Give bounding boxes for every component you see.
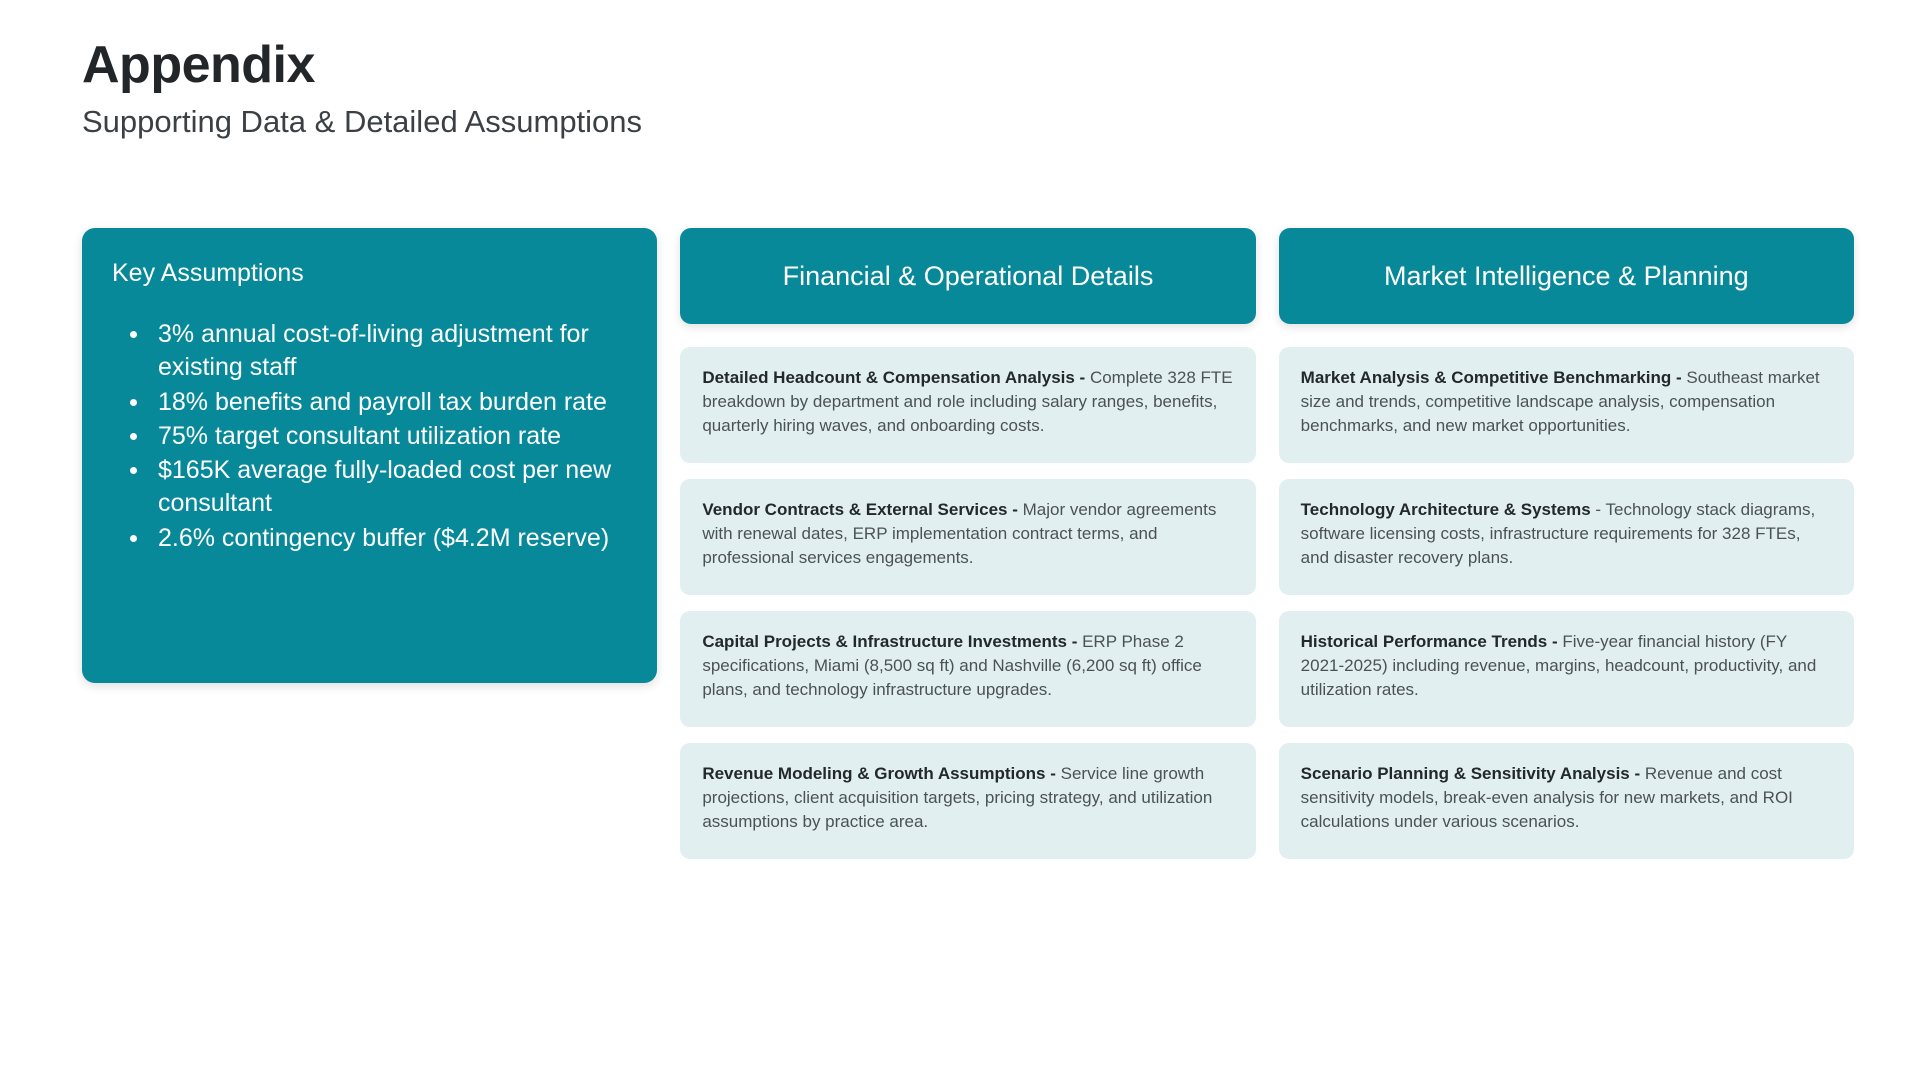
list-item: 75% target consultant utilization rate <box>112 420 627 453</box>
detail-card: Historical Performance Trends - Five-yea… <box>1279 611 1854 727</box>
detail-card: Vendor Contracts & External Services - M… <box>680 479 1255 595</box>
list-item: 2.6% contingency buffer ($4.2M reserve) <box>112 522 627 555</box>
bullet-icon <box>130 331 137 338</box>
detail-card: Capital Projects & Infrastructure Invest… <box>680 611 1255 727</box>
detail-card-lead: Historical Performance Trends - <box>1301 632 1558 651</box>
bullet-icon <box>130 467 137 474</box>
detail-card-text: Technology Architecture & Systems - Tech… <box>1301 498 1832 570</box>
bullet-icon <box>130 535 137 542</box>
list-item-label: 3% annual cost-of-living adjustment for … <box>158 320 589 381</box>
key-assumptions-title: Key Assumptions <box>112 258 627 288</box>
detail-card-lead: Scenario Planning & Sensitivity Analysis… <box>1301 764 1640 783</box>
detail-card-text: Detailed Headcount & Compensation Analys… <box>702 366 1233 438</box>
detail-card: Market Analysis & Competitive Benchmarki… <box>1279 347 1854 463</box>
list-item-label: 18% benefits and payroll tax burden rate <box>158 388 607 416</box>
column-header-market: Market Intelligence & Planning <box>1279 228 1854 324</box>
detail-card-text: Historical Performance Trends - Five-yea… <box>1301 630 1832 702</box>
page-title: Appendix <box>82 38 642 93</box>
bullet-icon <box>130 399 137 406</box>
detail-card-lead: Revenue Modeling & Growth Assumptions - <box>702 764 1056 783</box>
financial-operational-column: Financial & Operational Details Detailed… <box>680 228 1255 875</box>
column-header-label: Market Intelligence & Planning <box>1370 260 1763 292</box>
detail-card: Scenario Planning & Sensitivity Analysis… <box>1279 743 1854 859</box>
key-assumptions-column: Key Assumptions 3% annual cost-of-living… <box>82 228 657 683</box>
key-assumptions-panel: Key Assumptions 3% annual cost-of-living… <box>82 228 657 683</box>
list-item-label: 2.6% contingency buffer ($4.2M reserve) <box>158 524 609 552</box>
detail-card-text: Revenue Modeling & Growth Assumptions - … <box>702 762 1233 834</box>
key-assumptions-list: 3% annual cost-of-living adjustment for … <box>112 318 627 555</box>
detail-card-text: Vendor Contracts & External Services - M… <box>702 498 1233 570</box>
columns-container: Key Assumptions 3% annual cost-of-living… <box>82 228 1854 875</box>
detail-card-text: Market Analysis & Competitive Benchmarki… <box>1301 366 1832 438</box>
column-header-financial: Financial & Operational Details <box>680 228 1255 324</box>
bullet-icon <box>130 433 137 440</box>
market-intelligence-column: Market Intelligence & Planning Market An… <box>1279 228 1854 875</box>
detail-card-text: Capital Projects & Infrastructure Invest… <box>702 630 1233 702</box>
list-item-label: 75% target consultant utilization rate <box>158 422 561 450</box>
detail-card: Detailed Headcount & Compensation Analys… <box>680 347 1255 463</box>
list-item: 3% annual cost-of-living adjustment for … <box>112 318 627 385</box>
detail-card-lead: Technology Architecture & Systems <box>1301 500 1591 519</box>
detail-card: Revenue Modeling & Growth Assumptions - … <box>680 743 1255 859</box>
list-item: $165K average fully-loaded cost per new … <box>112 454 627 521</box>
detail-card-lead: Vendor Contracts & External Services - <box>702 500 1018 519</box>
column-header-label: Financial & Operational Details <box>769 260 1168 292</box>
detail-card-lead: Capital Projects & Infrastructure Invest… <box>702 632 1077 651</box>
detail-card-text: Scenario Planning & Sensitivity Analysis… <box>1301 762 1832 834</box>
list-item-label: $165K average fully-loaded cost per new … <box>158 456 611 517</box>
list-item: 18% benefits and payroll tax burden rate <box>112 386 627 419</box>
detail-card-lead: Market Analysis & Competitive Benchmarki… <box>1301 368 1682 387</box>
detail-card-lead: Detailed Headcount & Compensation Analys… <box>702 368 1085 387</box>
page-subtitle: Supporting Data & Detailed Assumptions <box>82 105 642 139</box>
slide-header: Appendix Supporting Data & Detailed Assu… <box>82 38 642 139</box>
appendix-slide: Appendix Supporting Data & Detailed Assu… <box>0 0 1920 1080</box>
detail-card: Technology Architecture & Systems - Tech… <box>1279 479 1854 595</box>
